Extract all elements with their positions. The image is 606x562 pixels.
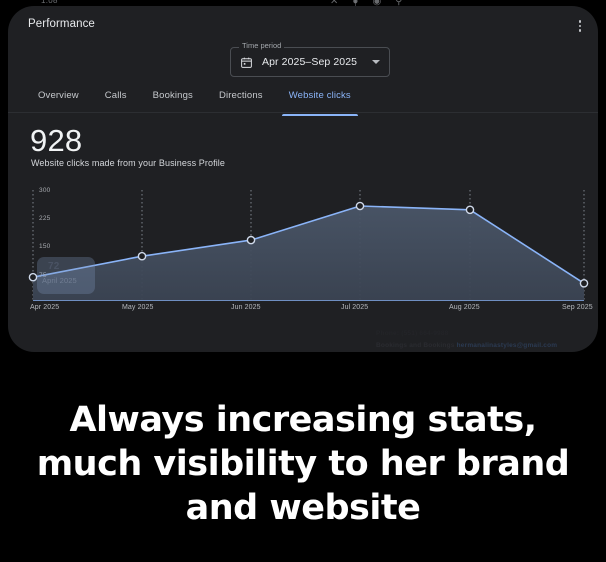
tab-calls[interactable]: Calls (92, 90, 140, 112)
metric-value: 928 (30, 123, 82, 159)
page-title: Performance (28, 18, 95, 30)
chevron-down-icon[interactable] (372, 60, 380, 64)
y-tick-150: 150 (39, 243, 50, 250)
chart-point-jun[interactable] (247, 237, 254, 244)
caption-line-1: Always increasing stats, (0, 398, 606, 442)
metric-description: Website clicks made from your Business P… (31, 158, 225, 168)
caption-line-2: much visibility to her brand (0, 442, 606, 486)
tab-website-clicks[interactable]: Website clicks (276, 90, 364, 112)
y-tick-225: 225 (39, 215, 50, 222)
more-vert-icon[interactable] (573, 18, 587, 34)
background-email-link[interactable]: hermanalinastyles@gmail.com (457, 342, 558, 349)
x-tick-jun: Jun 2025 (231, 304, 261, 311)
background-phone: Phone: (551) 664-9988 (376, 330, 576, 337)
background-contact-text: Phone: (551) 664-9988 Bookings and Booki… (376, 330, 576, 349)
tooltip-value: 72 (48, 261, 60, 272)
chart-point-sep[interactable] (580, 280, 587, 287)
background-bookings-label: Bookings and Bookings (376, 342, 455, 349)
website-clicks-chart: 300 225 150 75 Apr 2025 May 2025 Jun 202… (8, 182, 598, 322)
chart-area-fill (33, 206, 584, 300)
chart-tooltip: 72 April 2025 (37, 257, 95, 294)
tab-bar: Overview Calls Bookings Directions Websi… (30, 90, 364, 112)
x-tick-may: May 2025 (122, 304, 154, 311)
tooltip-date: April 2025 (42, 276, 77, 285)
chart-point-apr[interactable] (29, 274, 36, 281)
chart-point-jul[interactable] (356, 202, 363, 209)
performance-card: Performance Time period Apr 2025–Sep 202… (8, 6, 598, 352)
caption-text: Always increasing stats, much visibility… (0, 398, 606, 530)
background-bookings-row: Bookings and Bookings hermanalinastyles@… (376, 342, 576, 349)
overlay-time-label: 1:08 (41, 0, 58, 5)
chart-point-may[interactable] (138, 253, 145, 260)
screenshot-root: 1:08 ✕ ● ◉ ⚲ Performance Time period (0, 0, 606, 562)
tab-directions[interactable]: Directions (206, 90, 276, 112)
time-period-select[interactable]: Time period Apr 2025–Sep 2025 (230, 47, 390, 77)
x-tick-apr: Apr 2025 (30, 304, 59, 311)
tab-bar-divider (8, 112, 598, 113)
caption-line-3: and website (0, 486, 606, 530)
calendar-icon (240, 56, 253, 69)
chart-point-aug[interactable] (466, 206, 473, 213)
time-period-value: Apr 2025–Sep 2025 (262, 56, 363, 68)
x-tick-sep: Sep 2025 (562, 304, 593, 311)
tab-bookings[interactable]: Bookings (140, 90, 206, 112)
tab-overview[interactable]: Overview (30, 90, 92, 112)
x-tick-aug: Aug 2025 (449, 304, 480, 311)
chart-svg (8, 182, 598, 322)
y-tick-300: 300 (39, 187, 50, 194)
x-tick-jul: Jul 2025 (341, 304, 368, 311)
